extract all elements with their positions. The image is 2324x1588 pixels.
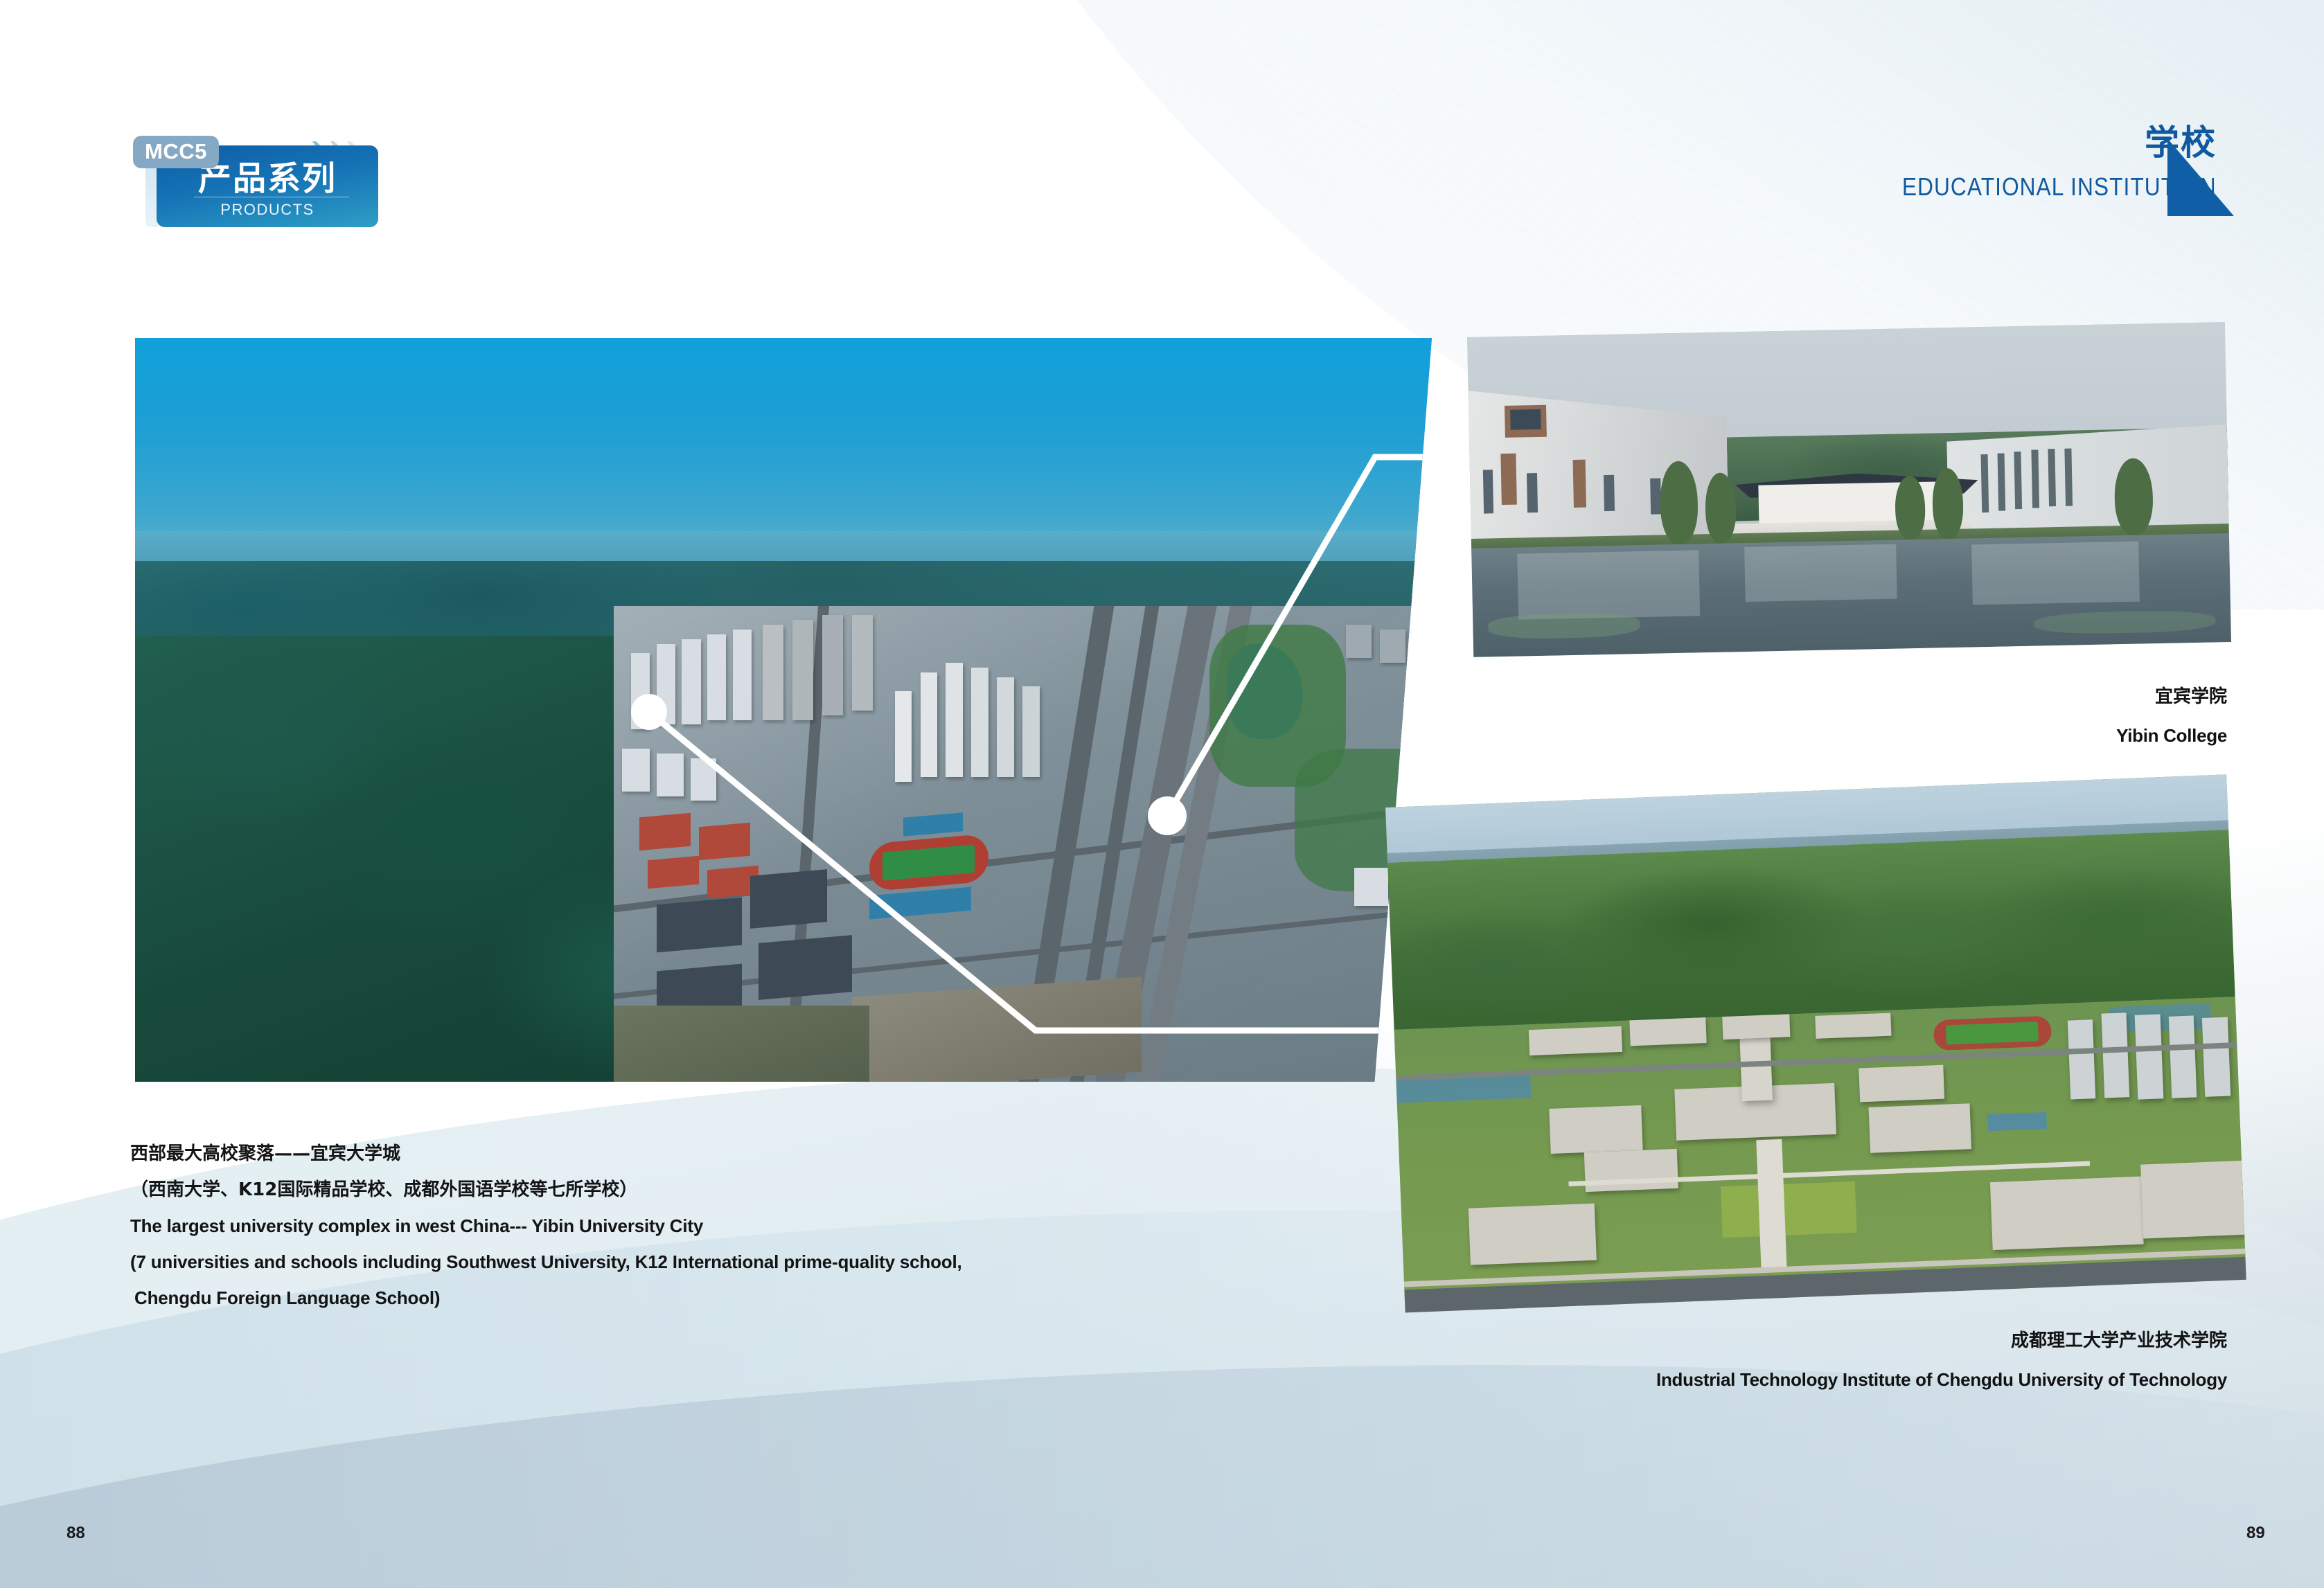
photo-building-cluster (614, 606, 1465, 1082)
mcc5-tag: MCC5 (133, 136, 219, 168)
yibin-college-caption: 宜宾学院 Yibin College (2116, 686, 2227, 748)
badge-divider (194, 197, 349, 197)
yibin-caption-en: Yibin College (2116, 724, 2227, 748)
badge-title-en: PRODUCTS (157, 201, 378, 219)
caption-line-4: (7 universities and schools including So… (130, 1244, 1100, 1280)
chengdu-caption-en: Industrial Technology Institute of Cheng… (1656, 1368, 2227, 1392)
yibin-caption-cn: 宜宾学院 (2116, 686, 2227, 709)
products-badge: 产品系列 PRODUCTS MCC5 (133, 136, 411, 227)
tr-lake (1471, 533, 2231, 657)
caption-line-5: Chengdu Foreign Language School) (130, 1280, 1100, 1316)
photo-sky (135, 338, 1465, 561)
br-central-lawn (1721, 1181, 1857, 1238)
chengdu-caption-cn: 成都理工大学产业技术学院 (1656, 1330, 2227, 1353)
caption-line-1: 西部最大高校聚落——宜宾大学城 (130, 1136, 1100, 1172)
caption-line-3: The largest university complex in west C… (130, 1208, 1100, 1244)
page-number-left: 88 (66, 1524, 85, 1543)
photo-yibin-college (1467, 322, 2231, 657)
photo-chengdu-tech-institute (1385, 774, 2246, 1312)
section-title-block: 学校 EDUCATIONAL INSTITUTION (1859, 125, 2217, 202)
photo-city (614, 606, 1465, 1082)
chengdu-tech-caption: 成都理工大学产业技术学院 Industrial Technology Insti… (1656, 1330, 2227, 1392)
main-photo-caption: 西部最大高校聚落——宜宾大学城 （西南大学、K12国际精品学校、成都外国语学校等… (130, 1136, 1100, 1316)
section-title-cn: 学校 (1859, 125, 2217, 161)
caption-line-2: （西南大学、K12国际精品学校、成都外国语学校等七所学校） (130, 1172, 1100, 1208)
brochure-page: 产品系列 PRODUCTS MCC5 学校 EDUCATIONAL INSTIT… (0, 0, 2324, 1588)
page-number-right: 89 (2246, 1524, 2265, 1543)
br-campus-grounds (1394, 997, 2246, 1312)
main-aerial-photo (135, 338, 1465, 1082)
